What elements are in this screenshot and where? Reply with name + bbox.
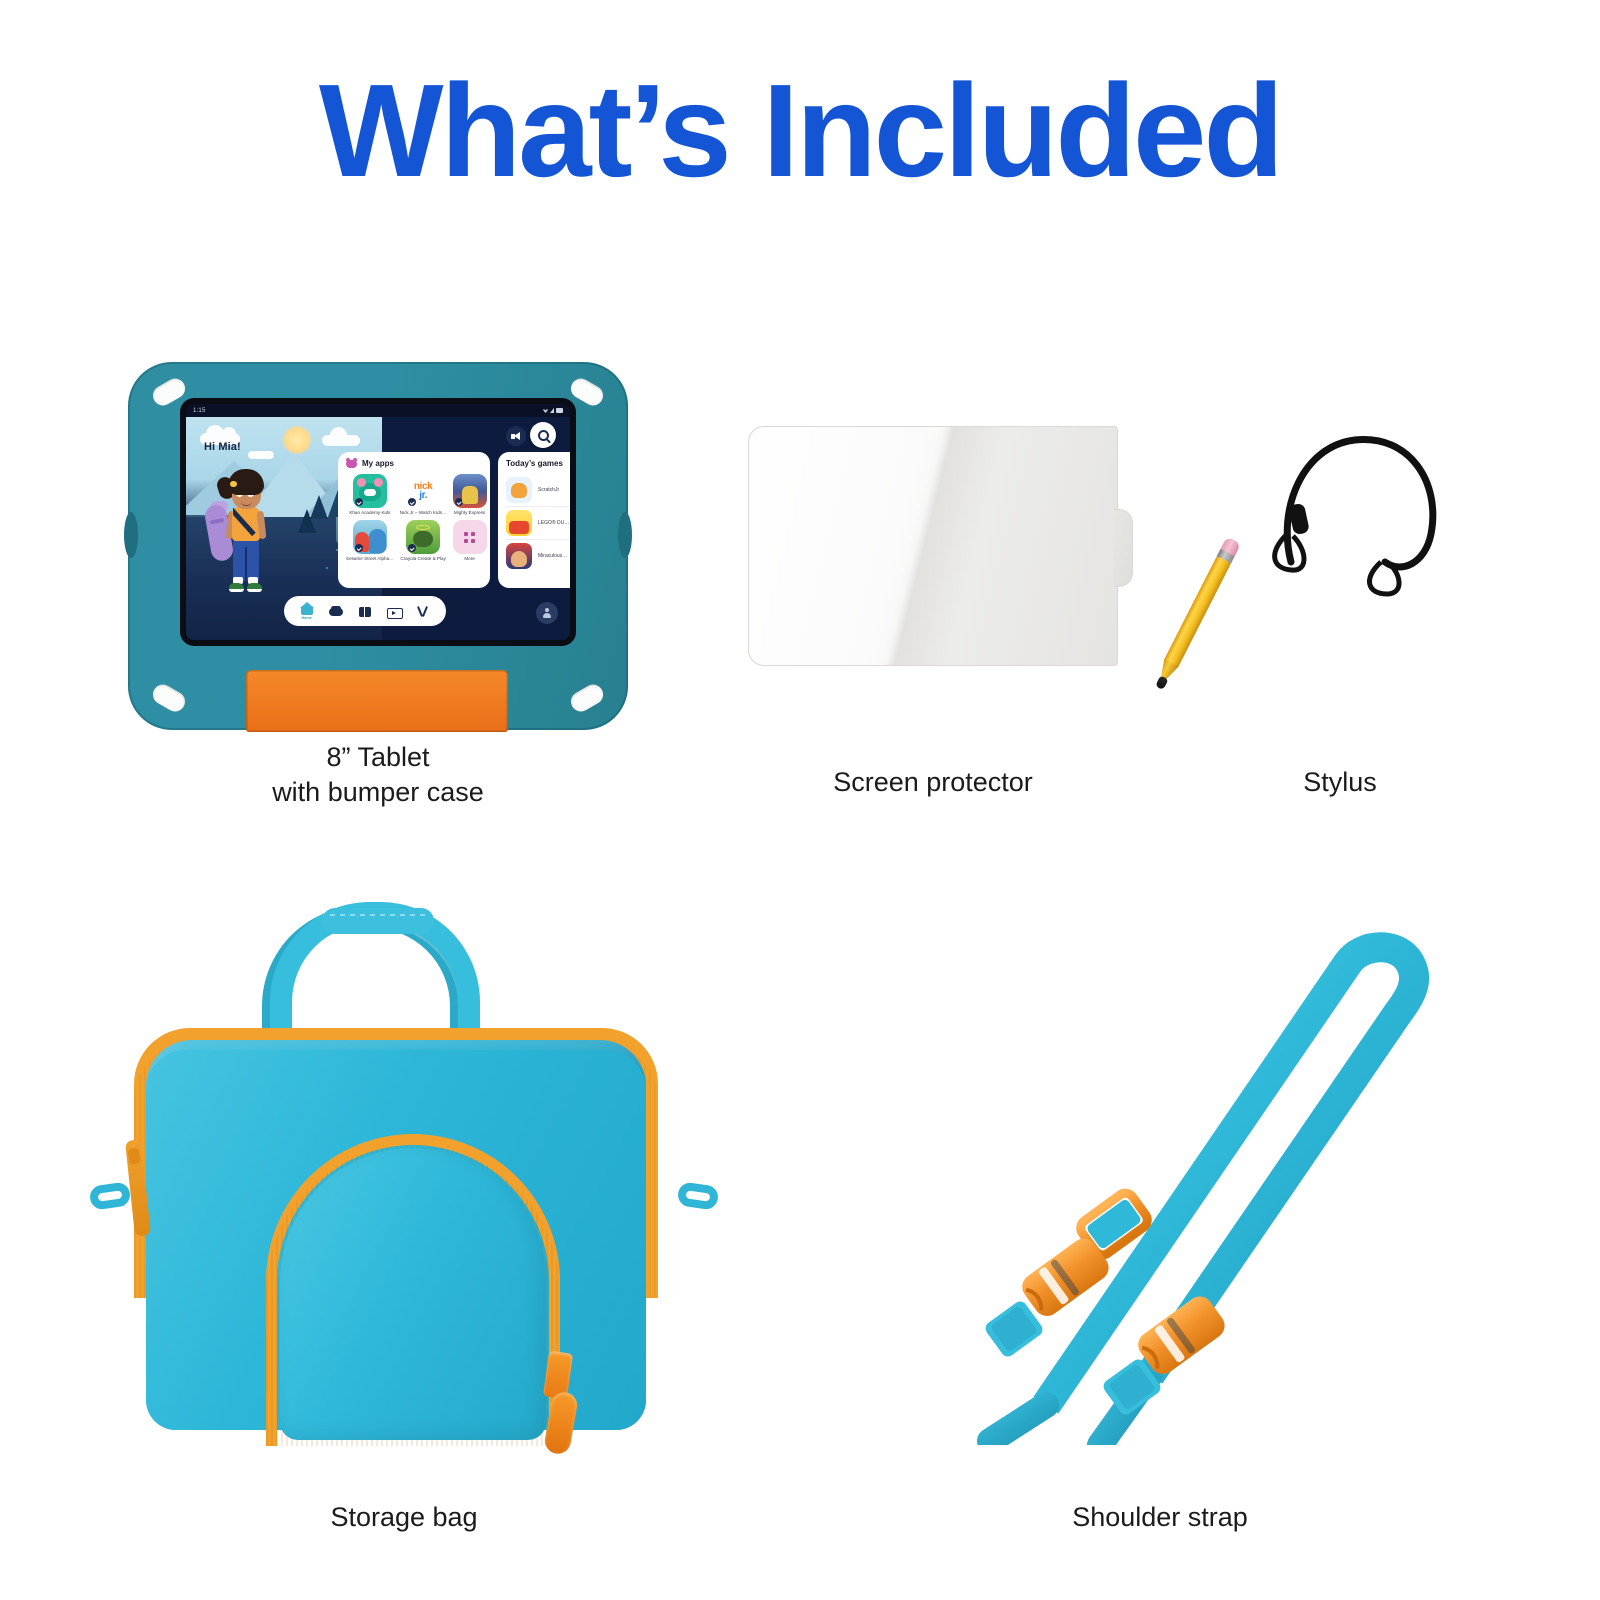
status-bar-icons (543, 408, 563, 413)
app-tile[interactable]: Khan Academy Kids (346, 474, 394, 515)
character-illustration (216, 469, 278, 599)
nav-label-home: Home (301, 616, 312, 620)
battery-icon (556, 408, 563, 413)
app-label: More (453, 556, 487, 561)
miraculous-icon (506, 543, 532, 569)
app-label: Sesame Street Alpha… (346, 556, 394, 561)
sun-icon (282, 425, 312, 455)
corner-grip-top-left (149, 375, 188, 409)
app-tile-more[interactable]: More (453, 520, 487, 561)
home-icon (300, 602, 314, 615)
person-icon (543, 608, 551, 618)
sparkle-dot (326, 567, 328, 569)
scissors-icon (416, 605, 430, 618)
todays-games-title: Today’s games (506, 459, 570, 468)
stylus-tip (1155, 675, 1168, 690)
controller-icon (346, 460, 357, 468)
nick-wordmark-bottom: jr. (419, 491, 427, 500)
bag-handle-grip (322, 908, 434, 934)
product-screen-protector (748, 426, 1118, 666)
mighty-express-icon (453, 474, 487, 508)
app-tile[interactable]: Sesame Street Alpha… (346, 520, 394, 561)
page-title: What’s Included (0, 62, 1600, 201)
shoulder-strap-illustration (850, 905, 1470, 1445)
todays-games-card[interactable]: Today’s games ScratchJr LEGO® DU… Miracu… (498, 452, 570, 588)
greeting-text: Hi Mia! (204, 441, 241, 453)
game-list-item[interactable]: Miraculous… (506, 540, 570, 572)
my-apps-title: My apps (362, 459, 394, 468)
volume-button[interactable] (506, 426, 526, 446)
speaker-icon (511, 432, 522, 441)
game-label: ScratchJr (538, 487, 559, 493)
bottom-nav-bar: Home (284, 596, 446, 626)
app-label: Khan Academy Kids (346, 510, 394, 515)
bumper-side-nub-left (124, 512, 138, 558)
cloud-icon (322, 435, 360, 446)
app-tile[interactable]: nick jr. Nick Jr – Watch Kids… (400, 474, 447, 515)
corner-grip-bottom-right (567, 681, 606, 715)
caption-shoulder-strap: Shoulder strap (850, 1500, 1470, 1535)
game-list-item[interactable]: ScratchJr (506, 474, 570, 507)
bag-handle-stitching (330, 914, 426, 916)
product-tablet: 1:15 (128, 362, 628, 730)
glass-sheen (749, 427, 1117, 665)
my-apps-header: My apps (346, 459, 482, 468)
crayola-create-play-icon (406, 520, 440, 554)
search-button[interactable] (530, 422, 556, 448)
app-tile[interactable]: Crayola Create & Play (400, 520, 447, 561)
video-icon (387, 605, 401, 618)
whats-included-infographic: What’s Included 1:15 (0, 0, 1600, 1600)
caption-stylus: Stylus (1205, 765, 1475, 800)
app-label: Crayola Create & Play (400, 556, 447, 561)
tree-shape (298, 509, 316, 533)
kickstand (246, 670, 508, 732)
status-bar-time: 1:15 (193, 408, 205, 414)
gamepad-icon (329, 605, 343, 618)
tablet-screen[interactable]: 1:15 (186, 404, 570, 640)
product-storage-bag (84, 900, 724, 1460)
bag-front-pocket (280, 1148, 546, 1440)
d-ring-right (677, 1181, 720, 1210)
game-label: Miraculous… (538, 553, 567, 559)
nav-item-video[interactable] (387, 605, 401, 618)
nick-jr-icon: nick jr. (406, 474, 440, 508)
scratchjr-icon (506, 477, 532, 503)
caption-storage-bag: Storage bag (84, 1500, 724, 1535)
status-bar: 1:15 (186, 404, 570, 417)
bumper-side-nub-right (618, 512, 632, 558)
signal-icon (550, 408, 554, 413)
avatar[interactable] (536, 602, 558, 624)
caption-tablet: 8” Tablet with bumper case (128, 740, 628, 809)
sesame-street-icon (353, 520, 387, 554)
corner-grip-bottom-left (149, 681, 188, 715)
my-apps-grid: Khan Academy Kids nick jr. Nick Jr – Wat… (346, 474, 482, 561)
app-label: Nick Jr – Watch Kids… (400, 510, 447, 515)
my-apps-card[interactable]: My apps Khan Academy Kids nick (338, 452, 490, 588)
d-ring-left (89, 1181, 132, 1210)
nav-item-books[interactable] (358, 605, 372, 618)
bumper-case: 1:15 (128, 362, 628, 730)
lego-duplo-icon (506, 510, 532, 536)
corner-grip-top-right (567, 375, 606, 409)
book-icon (358, 605, 372, 618)
game-list-item[interactable]: LEGO® DU… (506, 507, 570, 540)
nav-item-create[interactable] (416, 605, 430, 618)
game-label: LEGO® DU… (538, 520, 569, 526)
app-tile[interactable]: Mighty Express (453, 474, 487, 515)
product-stylus (1195, 412, 1465, 712)
nav-item-games[interactable] (329, 605, 343, 618)
nav-item-home[interactable]: Home (300, 602, 314, 620)
app-label: Mighty Express (453, 510, 487, 515)
caption-screen-protector: Screen protector (748, 765, 1118, 800)
khan-academy-kids-icon (353, 474, 387, 508)
wifi-icon (543, 408, 548, 413)
more-apps-icon (453, 520, 487, 554)
product-shoulder-strap (850, 905, 1470, 1445)
search-icon (538, 430, 549, 441)
